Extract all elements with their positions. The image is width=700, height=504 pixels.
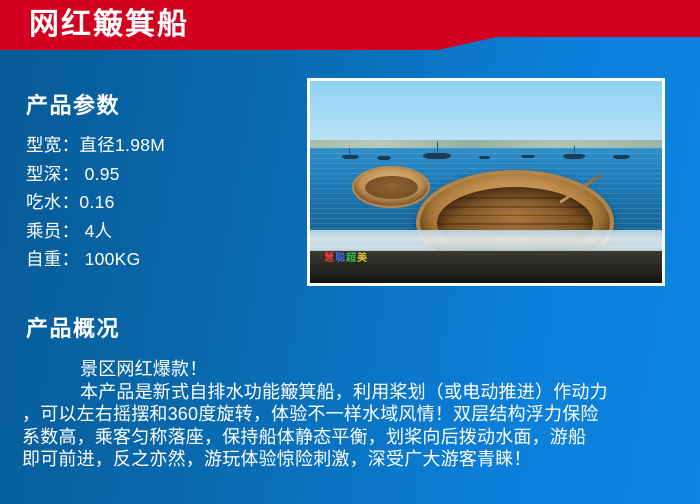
spec-value: 0.95 [79,164,119,184]
overview-line: 本产品是新式自排水功能簸箕船，利用桨划（或电动推进）作动力 [22,381,690,404]
spec-label: 型深 [26,164,62,184]
distant-boat-mast-icon [437,142,438,154]
overview-line: 即可前进，反之亦然，游玩体验惊险刺激，深受广大游客青睐！ [22,448,690,471]
spec-list: 型宽：直径1.98M 型深： 0.95 吃水：0.16 乘员： 4人 自重： 1… [26,131,286,274]
distant-boat-icon [479,156,490,159]
watermark-char: 美 [357,253,368,264]
overview-line: 系数高，乘客匀称落座，保持船体静态平衡，划桨向后拨动水面，游船 [22,426,690,449]
overview-line: ，可以左右摇摆和360度旋转，体验不一样水域风情！双层结构浮力保险 [22,403,690,426]
distant-boat-icon [342,155,360,159]
watermark-char: 慧 [324,253,335,264]
spec-value: 100KG [79,249,140,269]
watermark-char: 聪 [335,253,346,264]
spec-separator: ： [62,192,80,212]
spec-value: 4人 [79,221,112,241]
spec-separator: ： [62,135,80,155]
secondary-coracle-boat [352,166,430,208]
product-photo-image: 慧聪超美 [310,81,662,283]
page-title: 网红簸箕船 [29,4,189,46]
spec-separator: ： [62,164,80,184]
spec-value: 直径1.98M [79,135,165,155]
distant-boat-mast-icon [574,146,575,155]
overview-paragraph: 景区网红爆款！ 本产品是新式自排水功能簸箕船，利用桨划（或电动推进）作动力 ，可… [22,358,690,471]
spec-label: 吃水 [26,192,62,212]
spec-row: 吃水：0.16 [26,188,286,217]
photo-watermark: 慧聪超美 [324,253,368,265]
secondary-coracle-interior [365,176,418,200]
distant-boat-mast-icon [349,148,350,156]
spec-separator: ： [62,249,80,269]
photo-sky [310,81,662,148]
spec-row: 乘员： 4人 [26,217,286,246]
spec-value: 0.16 [79,192,114,212]
spec-label: 乘员 [26,221,62,241]
product-photo: 慧聪超美 [307,78,665,286]
spec-label: 型宽 [26,135,62,155]
product-detail-page: 网红簸箕船 产品参数 型宽：直径1.98M 型深： 0.95 吃水：0.16 乘… [0,0,700,504]
spec-label: 自重 [26,249,62,269]
distant-boat-icon [521,155,535,159]
watermark-char: 超 [346,253,357,264]
spec-row: 型宽：直径1.98M [26,131,286,160]
overview-section-heading: 产品概况 [26,311,120,343]
spec-row: 自重： 100KG [26,245,286,274]
spec-row: 型深： 0.95 [26,160,286,189]
distant-boat-icon [377,156,391,160]
spec-section-heading: 产品参数 [26,88,120,120]
spec-separator: ： [62,221,80,241]
overview-line: 景区网红爆款！ [22,358,690,381]
